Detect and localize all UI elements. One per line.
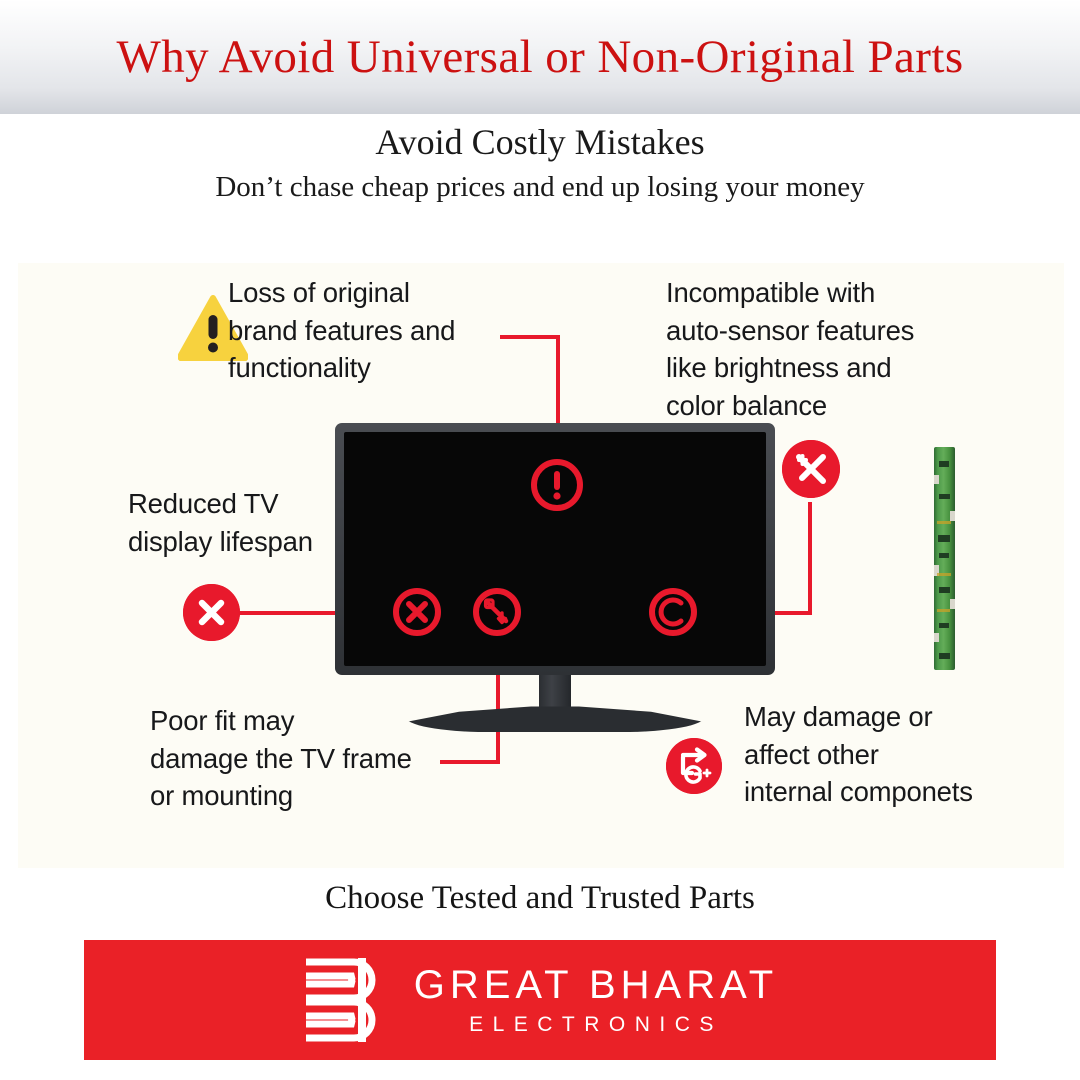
pcb-strip bbox=[934, 447, 955, 670]
callout-line: Loss of original bbox=[228, 274, 508, 312]
percent-down-ring-icon bbox=[472, 587, 522, 637]
subtitle-main: Avoid Costly Mistakes bbox=[0, 120, 1080, 165]
callout-damage-internal-components: May damage or affect other internal comp… bbox=[744, 698, 1014, 811]
callout-line: like brightness and bbox=[666, 349, 976, 387]
callout-line: damage the TV frame bbox=[150, 740, 460, 778]
arrow-spread-icon bbox=[666, 738, 722, 794]
brand-band: GREAT BHARAT ELECTRONICS bbox=[84, 940, 996, 1060]
callout-line: color balance bbox=[666, 387, 976, 425]
header-band: Why Avoid Universal or Non-Original Part… bbox=[0, 0, 1080, 114]
callout-loss-of-features: Loss of original brand features and func… bbox=[228, 274, 508, 387]
callout-reduced-lifespan: Reduced TV display lifespan bbox=[128, 485, 368, 560]
callout-line: Incompatible with bbox=[666, 274, 976, 312]
subtitle-note: Don’t chase cheap prices and end up losi… bbox=[0, 171, 1080, 204]
callout-line: affect other bbox=[744, 736, 1014, 774]
callout-line: internal componets bbox=[744, 773, 1014, 811]
x-mark-ring-icon bbox=[392, 587, 442, 637]
callout-line: May damage or bbox=[744, 698, 1014, 736]
brightness-ring-icon bbox=[648, 587, 698, 637]
callout-line: Poor fit may bbox=[150, 702, 460, 740]
footer-tagline: Choose Tested and Trusted Parts bbox=[0, 880, 1080, 917]
callout-line: display lifespan bbox=[128, 523, 368, 561]
callout-poor-fit-damage: Poor fit may damage the TV frame or moun… bbox=[150, 702, 460, 815]
x-circle-icon bbox=[183, 584, 240, 641]
callout-incompatible-auto-sensor: Incompatible with auto-sensor features l… bbox=[666, 274, 976, 425]
b-monogram-logo bbox=[302, 952, 388, 1048]
callout-line: functionality bbox=[228, 349, 508, 387]
brand-name: GREAT BHARAT bbox=[414, 964, 779, 1006]
callout-line: Reduced TV bbox=[128, 485, 368, 523]
connector-line-brightness-vertical bbox=[808, 502, 812, 615]
brand-subtitle: ELECTRONICS bbox=[414, 1013, 779, 1037]
page-title: Why Avoid Universal or Non-Original Part… bbox=[116, 30, 963, 84]
crossed-tools-icon bbox=[782, 440, 840, 498]
subtitle-block: Avoid Costly Mistakes Don’t chase cheap … bbox=[0, 120, 1080, 204]
callout-line: or mounting bbox=[150, 777, 460, 815]
connector-line-loss-horizontal bbox=[500, 335, 560, 339]
callout-line: auto-sensor features bbox=[666, 312, 976, 350]
exclamation-circle-icon bbox=[530, 458, 584, 512]
callout-line: brand features and bbox=[228, 312, 508, 350]
